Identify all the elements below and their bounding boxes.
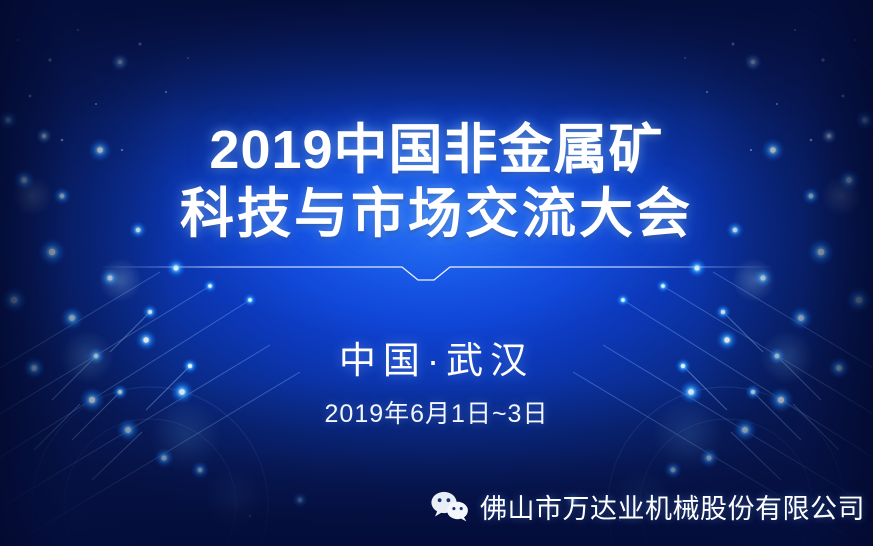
- decorative-divider: [102, 258, 771, 284]
- title-line-1: 2019中国非金属矿: [0, 118, 873, 182]
- company-name: 佛山市万达业机械股份有限公司: [480, 487, 865, 526]
- conference-poster: 2019中国非金属矿 科技与市场交流大会 中国·武汉 2019年6月1日~3日: [0, 0, 873, 546]
- event-city: 中国·武汉: [0, 330, 873, 384]
- title-line-2: 科技与市场交流大会: [0, 182, 873, 246]
- wechat-icon: [430, 490, 470, 522]
- event-date: 2019年6月1日~3日: [0, 394, 873, 430]
- poster-title: 2019中国非金属矿 科技与市场交流大会: [0, 118, 873, 246]
- poster-content: 2019中国非金属矿 科技与市场交流大会 中国·武汉 2019年6月1日~3日: [0, 0, 873, 546]
- company-credit: 佛山市万达业机械股份有限公司: [0, 484, 865, 528]
